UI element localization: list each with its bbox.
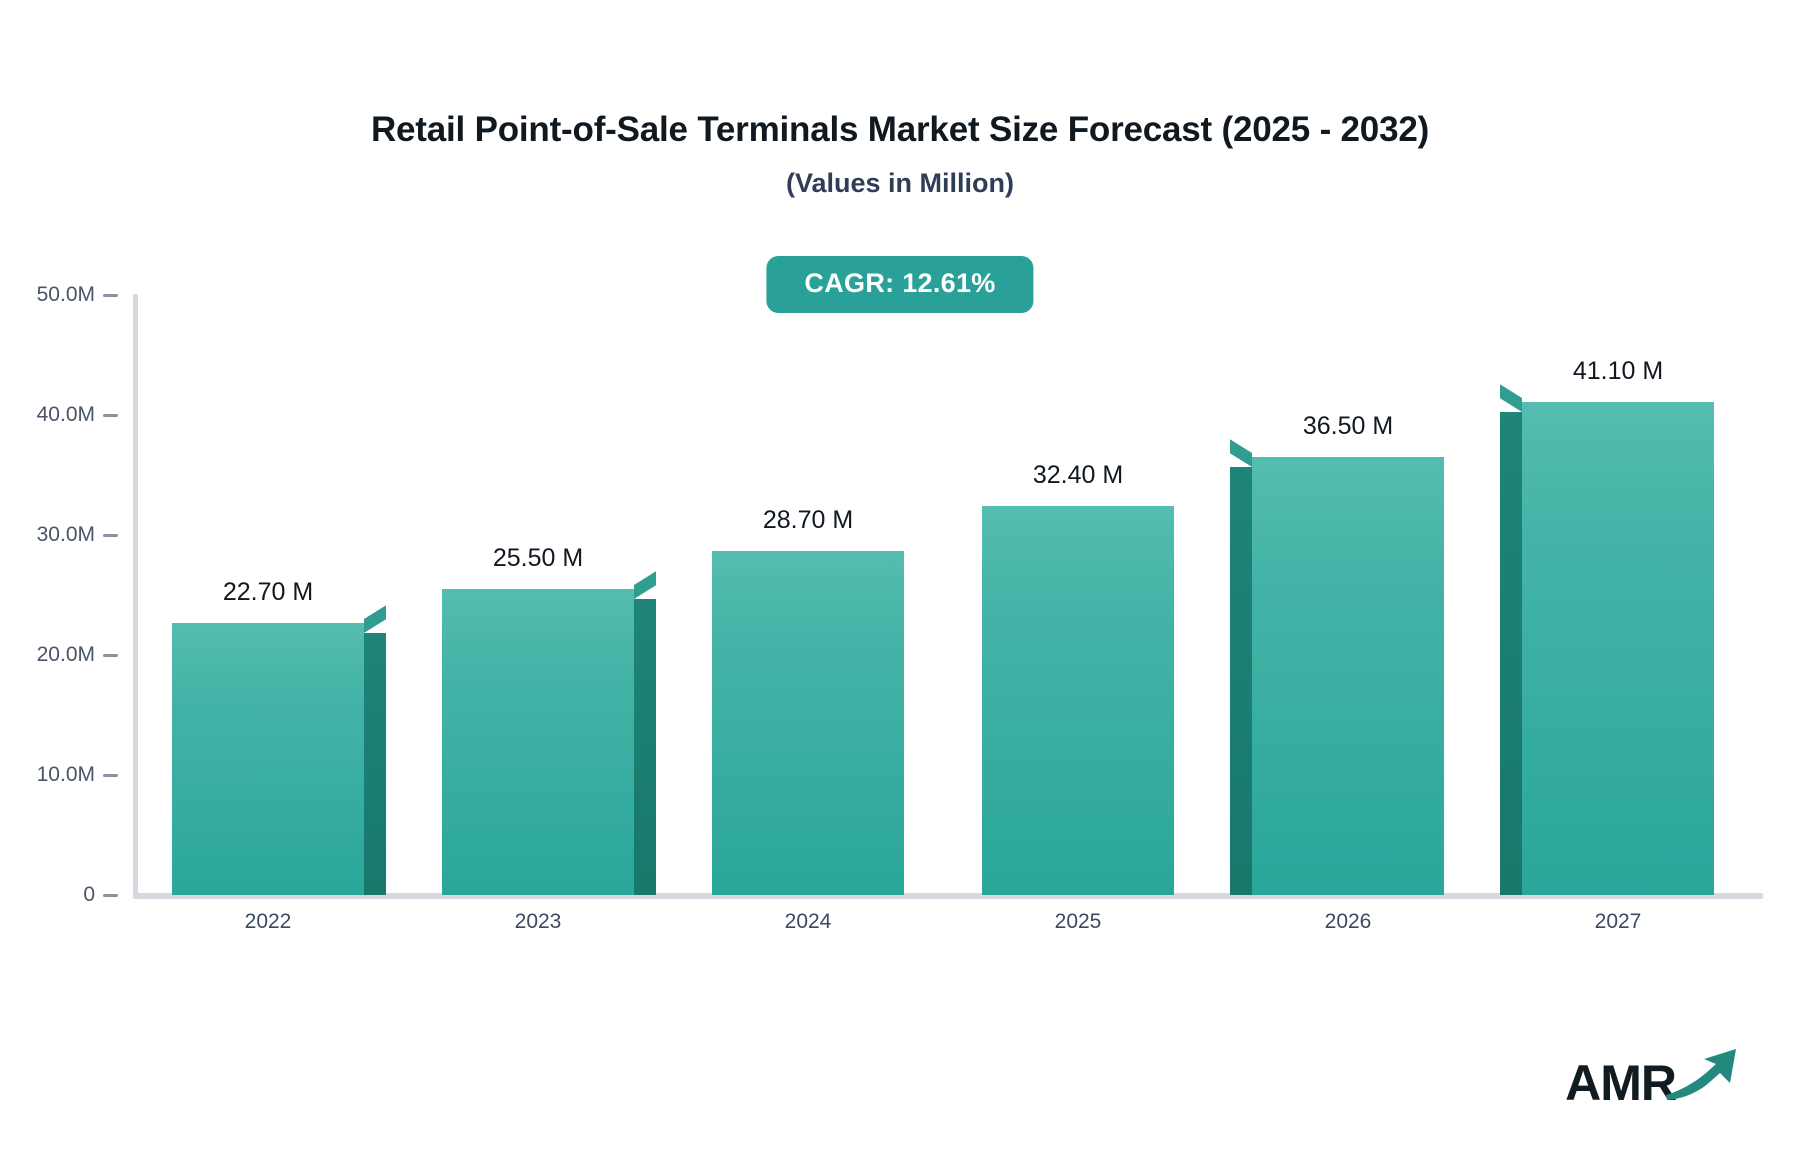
bar-front-face xyxy=(1252,457,1444,895)
x-axis-tick-label: 2022 xyxy=(245,910,292,934)
bar-group[interactable]: 32.40 M xyxy=(982,295,1174,895)
plot-area: 22.70 M25.50 M28.70 M32.40 M36.50 M41.10… xyxy=(133,295,1753,895)
bar-value-label: 25.50 M xyxy=(493,544,583,573)
bar-value-label: 41.10 M xyxy=(1573,357,1663,386)
bar-group[interactable]: 36.50 M xyxy=(1252,295,1444,895)
bar-group[interactable]: 25.50 M xyxy=(442,295,634,895)
x-axis-tick-label: 2023 xyxy=(515,910,562,934)
logo-text: AMR xyxy=(1565,1058,1676,1108)
bar-top-face xyxy=(634,571,656,599)
y-axis-tick-mark xyxy=(103,654,118,657)
x-axis-tick-label: 2025 xyxy=(1055,910,1102,934)
bar-front-face xyxy=(712,551,904,895)
bar-value-label: 36.50 M xyxy=(1303,412,1393,441)
x-axis-tick-label: 2027 xyxy=(1595,910,1642,934)
bar-top-face xyxy=(1230,439,1252,467)
y-axis-tick-label: 40.0M xyxy=(37,403,95,427)
y-axis-tick-label: 30.0M xyxy=(37,523,95,547)
bar-value-label: 22.70 M xyxy=(223,578,313,607)
bar-group[interactable]: 22.70 M xyxy=(172,295,364,895)
bar-value-label: 32.40 M xyxy=(1033,461,1123,490)
y-axis-tick-label: 20.0M xyxy=(37,643,95,667)
bar-top-face xyxy=(1500,384,1522,412)
bar-group[interactable]: 28.70 M xyxy=(712,295,904,895)
bar-front-face xyxy=(172,623,364,895)
amr-logo: AMR xyxy=(1565,1044,1742,1108)
y-axis-tick-label: 50.0M xyxy=(37,283,95,307)
y-axis-tick-mark xyxy=(103,534,118,537)
chart-canvas: Retail Point-of-Sale Terminals Market Si… xyxy=(0,0,1800,1156)
y-axis-tick-mark xyxy=(103,894,118,897)
page-title: Retail Point-of-Sale Terminals Market Si… xyxy=(0,110,1800,150)
bar-side-face xyxy=(364,633,386,895)
bar-value-label: 28.70 M xyxy=(763,506,853,535)
y-axis-tick-label: 10.0M xyxy=(37,763,95,787)
bar-side-face xyxy=(1500,412,1522,895)
bar-side-face xyxy=(1230,467,1252,895)
y-axis-tick-label: 0 xyxy=(83,883,95,907)
y-axis-tick-mark xyxy=(103,414,118,417)
bar-side-face xyxy=(634,599,656,895)
x-axis-tick-label: 2026 xyxy=(1325,910,1372,934)
y-axis-tick-mark xyxy=(103,294,118,297)
bar-front-face xyxy=(982,506,1174,895)
bar-front-face xyxy=(1522,402,1714,895)
bar-top-face xyxy=(364,605,386,633)
bar-front-face xyxy=(442,589,634,895)
bar-group[interactable]: 41.10 M xyxy=(1522,295,1714,895)
chart-subtitle: (Values in Million) xyxy=(0,168,1800,199)
growth-arrow-icon xyxy=(1664,1045,1742,1106)
y-axis-tick-mark xyxy=(103,774,118,777)
x-axis-tick-label: 2024 xyxy=(785,910,832,934)
